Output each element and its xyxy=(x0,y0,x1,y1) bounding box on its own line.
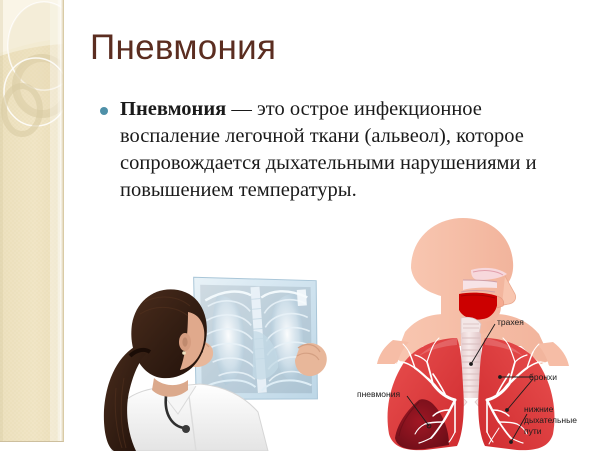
diagram-label-bronchi: бронхи xyxy=(529,372,557,383)
diagram-label-lower-airways-line3: пути xyxy=(524,426,577,437)
definition-paragraph: Пневмония — это острое инфекционное восп… xyxy=(120,96,584,204)
decorative-sidebar xyxy=(0,0,64,442)
sidebar-artwork xyxy=(0,0,63,441)
bullet-point-icon xyxy=(100,107,108,115)
definition-term: Пневмония xyxy=(120,98,226,120)
diagram-label-lower-airways: нижние дыхательные пути xyxy=(524,404,577,437)
diagram-label-trachea: трахея xyxy=(497,317,524,328)
list-item: Пневмония — это острое инфекционное восп… xyxy=(98,96,584,204)
diagram-label-pneumonia: пневмония xyxy=(357,389,400,400)
content-body: Пневмония — это острое инфекционное восп… xyxy=(98,96,584,204)
diagram-label-lower-airways-line2: дыхательные xyxy=(524,415,577,426)
slide-canvas: Пневмония Пневмония — это острое инфекци… xyxy=(0,0,600,451)
doctor-holding-chest-xray-photo xyxy=(92,228,340,451)
diagram-label-lower-airways-line1: нижние xyxy=(524,404,577,415)
page-title: Пневмония xyxy=(90,28,276,68)
